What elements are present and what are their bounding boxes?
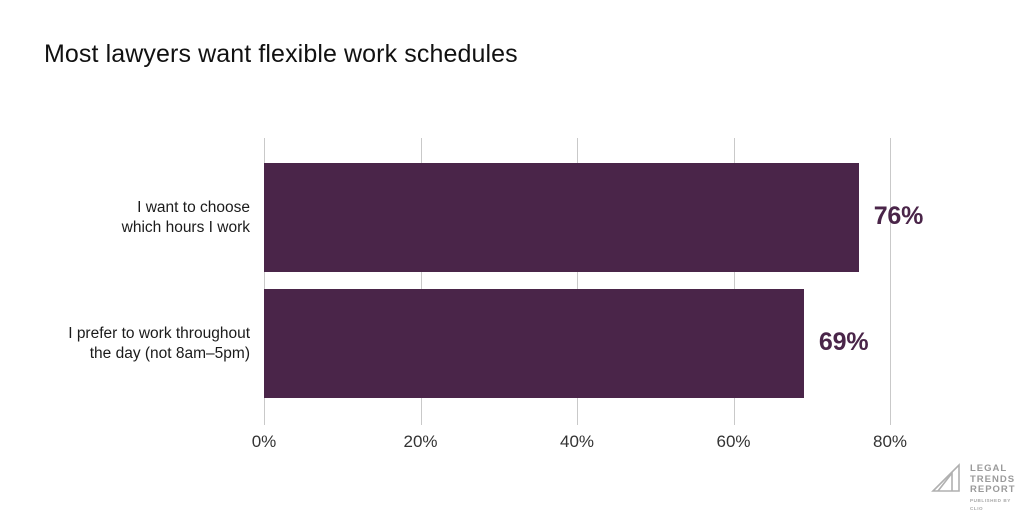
- category-label-1-line2: the day (not 8am–5pm): [0, 344, 250, 364]
- bar-1: [264, 289, 804, 398]
- tick-label-80: 80%: [873, 432, 907, 452]
- category-label-0-line2: which hours I work: [0, 218, 250, 238]
- gridline-80: [890, 138, 891, 425]
- triangle-logo-icon: [930, 462, 964, 496]
- tick-label-0: 0%: [252, 432, 277, 452]
- category-label-0-line1: I want to choose: [0, 198, 250, 218]
- category-label-0: I want to choose which hours I work: [0, 198, 250, 238]
- value-label-0: 76%: [874, 202, 923, 231]
- bar-row-0: [264, 163, 890, 272]
- category-label-1: I prefer to work throughout the day (not…: [0, 324, 250, 364]
- x-axis-tick-labels: 0%20%40%60%80%: [264, 432, 890, 462]
- chart-container: Most lawyers want flexible work schedule…: [0, 0, 1024, 512]
- tick-label-60: 60%: [716, 432, 750, 452]
- bars-layer: [264, 138, 890, 425]
- logo-tagline: PUBLISHED BY CLIO: [970, 497, 1024, 513]
- legal-trends-report-logo: LEGAL TRENDS REPORT PUBLISHED BY CLIO: [930, 462, 1024, 513]
- logo-line-1: LEGAL: [970, 464, 1024, 475]
- logo-line-3: REPORT: [970, 485, 1024, 496]
- category-axis: I want to choose which hours I work I pr…: [0, 138, 250, 425]
- plot-area: [264, 138, 890, 425]
- tick-label-20: 20%: [403, 432, 437, 452]
- tick-label-40: 40%: [560, 432, 594, 452]
- bar-0: [264, 163, 859, 272]
- value-label-1: 69%: [819, 328, 868, 357]
- bar-row-1: [264, 289, 890, 398]
- category-label-1-line1: I prefer to work throughout: [0, 324, 250, 344]
- chart-title: Most lawyers want flexible work schedule…: [44, 40, 518, 69]
- logo-text: LEGAL TRENDS REPORT PUBLISHED BY CLIO: [970, 462, 1024, 513]
